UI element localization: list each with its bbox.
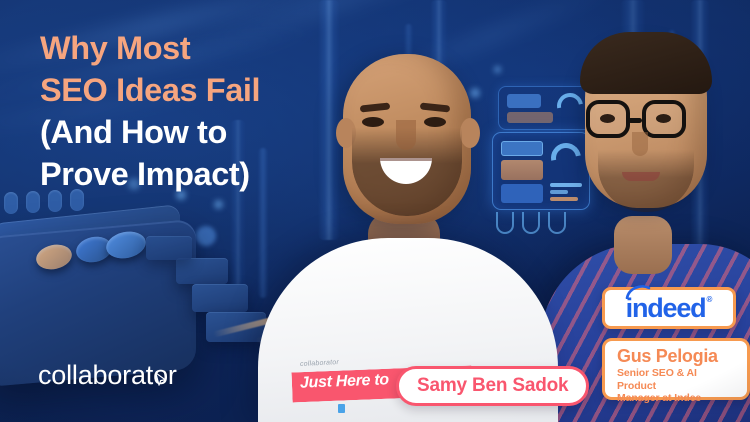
holo-chart-area	[507, 112, 553, 123]
registered-trademark-icon: ®	[706, 295, 712, 304]
indicator-lamp	[26, 191, 40, 213]
holo-bar	[550, 197, 578, 201]
speaker-name-samy: Samy Ben Sadok	[417, 375, 568, 397]
gus-eye	[600, 114, 615, 123]
holo-hook	[522, 212, 540, 234]
gus-hair	[580, 32, 712, 94]
gus-eye	[656, 114, 671, 123]
holo-card	[501, 160, 543, 180]
speaker-role-line-1: Senior SEO & AI Product	[617, 367, 737, 392]
gus-nose	[632, 132, 648, 156]
holo-hook	[496, 212, 514, 234]
gus-neck	[614, 216, 672, 274]
holo-panel-top	[498, 86, 598, 130]
machine-step	[192, 284, 248, 312]
indicator-lamp-row	[4, 192, 84, 214]
holo-chart-area	[507, 94, 541, 108]
holo-card	[501, 141, 543, 156]
collaborator-logo[interactable]: collaborator	[38, 362, 177, 389]
holo-card	[501, 184, 543, 203]
cursor-arrow-icon	[153, 372, 168, 387]
promo-banner: collaborator Just Here to Why Most SEO I…	[0, 0, 750, 422]
shirt-slogan-text: Just Here to	[300, 371, 390, 392]
indeed-logo: indeed ®	[626, 295, 713, 322]
samy-eye	[424, 117, 446, 127]
speaker-name-gus: Gus Pelogia	[617, 346, 737, 367]
samy-ear	[460, 118, 480, 148]
title-line-4: Prove Impact)	[40, 153, 370, 195]
machine-step	[176, 258, 228, 284]
speaker-name-badge-gus: Gus Pelogia Senior SEO & AI Product Mana…	[602, 338, 750, 400]
shirt-decor-mark	[338, 404, 345, 413]
bokeh-orb	[494, 66, 501, 73]
title-line-1: Why Most	[40, 27, 370, 69]
holo-panel-main	[492, 132, 590, 210]
indicator-lamp	[4, 192, 18, 214]
holo-donut-chart	[552, 88, 588, 124]
holo-donut-chart	[545, 137, 587, 179]
holo-bar	[550, 183, 582, 187]
bokeh-orb	[196, 226, 216, 246]
samy-nose	[396, 120, 416, 150]
speaker-name-badge-samy: Samy Ben Sadok	[396, 366, 589, 406]
title-line-3: (And How to	[40, 111, 370, 153]
bokeh-orb	[214, 200, 223, 209]
title-line-2: SEO Ideas Fail	[40, 69, 370, 111]
indeed-arc-icon	[625, 285, 651, 299]
company-logo-badge-indeed: indeed ®	[602, 287, 736, 329]
bokeh-orb	[470, 88, 480, 98]
holo-bar	[550, 190, 568, 194]
machine-step	[146, 236, 192, 260]
eyeglasses-bridge	[628, 118, 642, 123]
page-title: Why Most SEO Ideas Fail (And How to Prov…	[40, 27, 370, 195]
speaker-role-line-2: Manager at Indee	[617, 392, 737, 405]
gus-mouth	[622, 172, 660, 181]
holo-hook	[548, 212, 566, 234]
